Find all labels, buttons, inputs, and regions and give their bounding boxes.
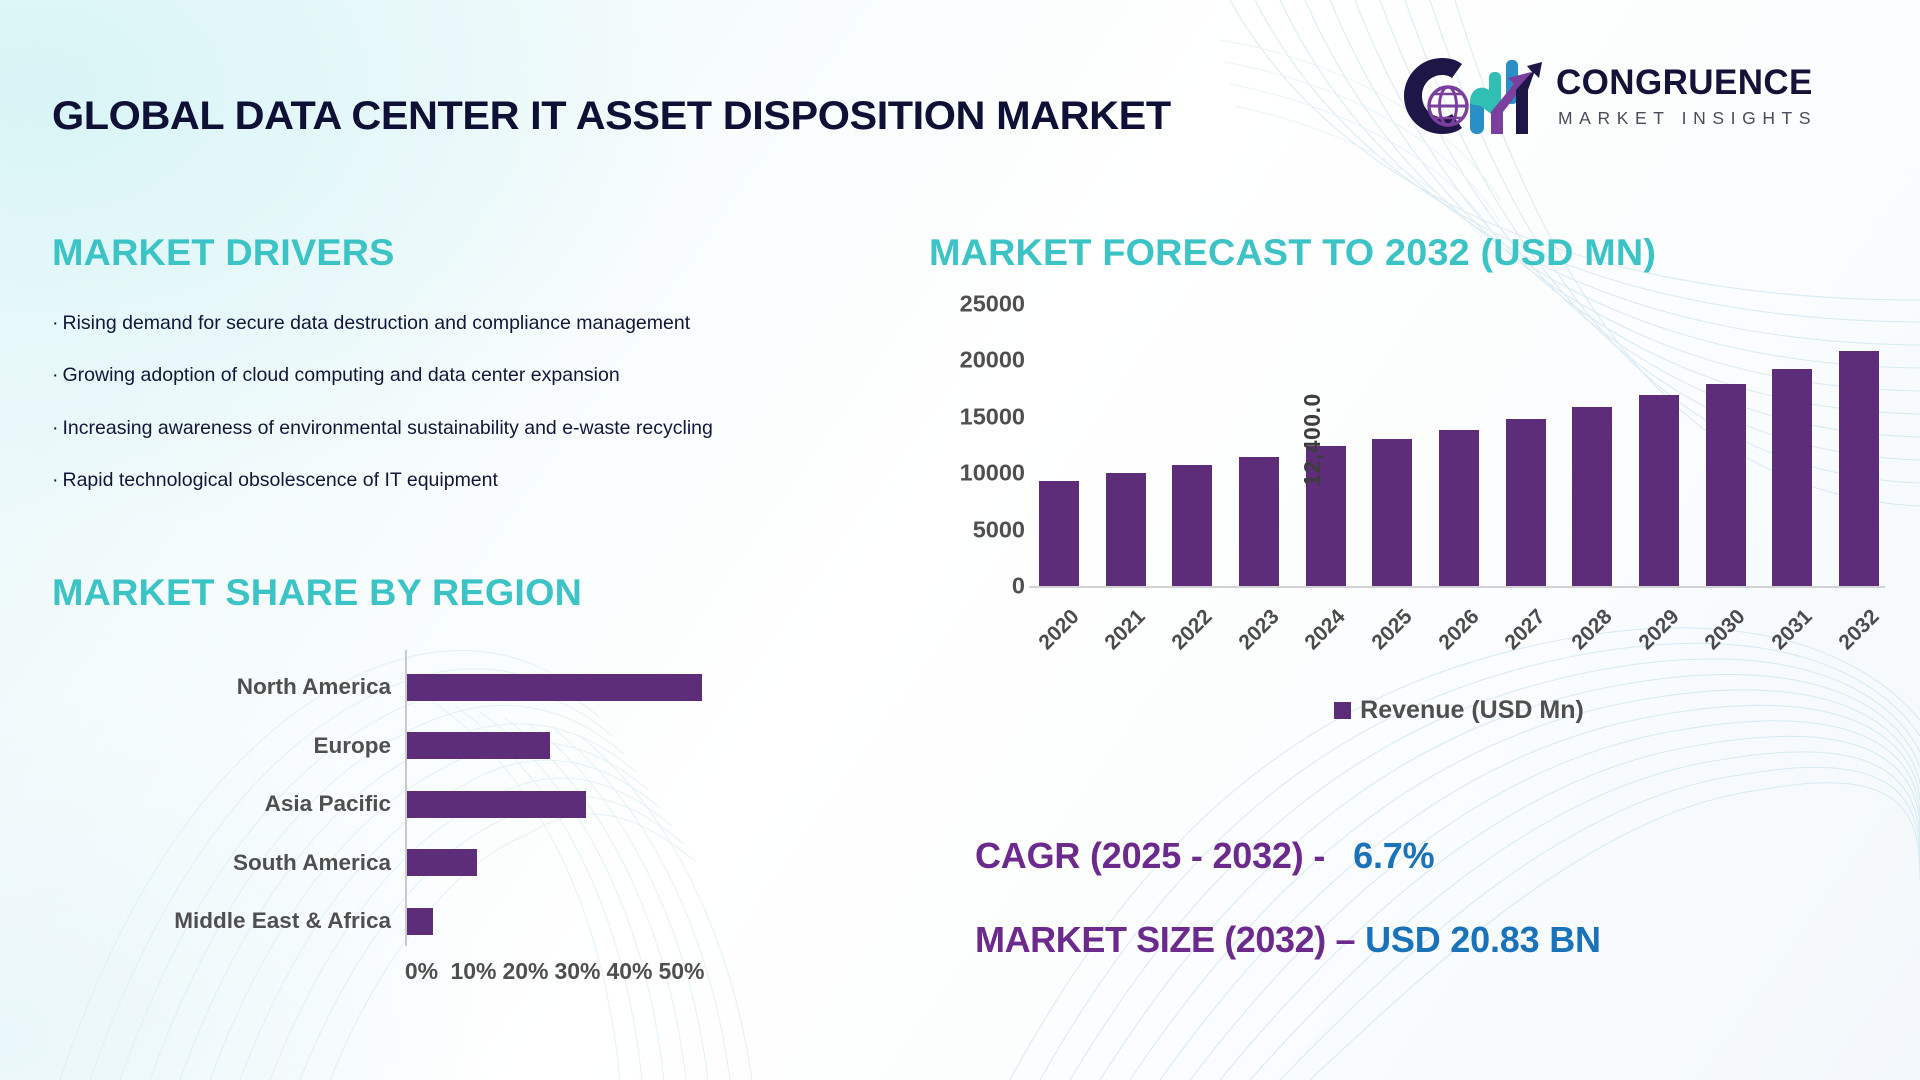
region-row: Asia Pacific	[52, 775, 882, 834]
x-axis-tick: 2022	[1170, 596, 1214, 642]
x-axis-tick: 2024	[1304, 596, 1348, 642]
bar	[1039, 481, 1079, 586]
legend-swatch-icon	[1334, 702, 1351, 719]
market-share-heading: MARKET SHARE BY REGION	[52, 572, 899, 614]
x-axis-tick: 2027	[1504, 596, 1548, 642]
forecast-y-axis: 0500010000150002000025000	[925, 304, 1025, 586]
y-axis-tick-label: 10000	[960, 460, 1025, 487]
legend-label: Revenue (USD Mn)	[1360, 696, 1584, 725]
bar-column: 12,400.0	[1304, 446, 1348, 586]
region-bar	[405, 849, 477, 876]
region-label: Europe	[52, 733, 405, 759]
cagr-label: CAGR (2025 - 2032) -	[975, 835, 1325, 877]
driver-item: ·Growing adoption of cloud computing and…	[52, 364, 1012, 387]
market-size-label: MARKET SIZE (2032) –	[975, 919, 1355, 961]
bar-column	[1237, 457, 1281, 586]
x-axis-tick: 2025	[1370, 596, 1414, 642]
bullet-icon: ·	[52, 312, 59, 334]
bar-column	[1570, 407, 1614, 586]
bullet-icon: ·	[52, 417, 59, 439]
driver-item: ·Rising demand for secure data destructi…	[52, 312, 1012, 335]
logo-company-name: CONGRUENCE	[1556, 65, 1817, 100]
region-bar-wrapper	[405, 775, 882, 834]
header: GLOBAL DATA CENTER IT ASSET DISPOSITION …	[0, 0, 1920, 180]
region-bar	[405, 732, 550, 759]
region-axis-tick-label: 50%	[646, 958, 717, 985]
y-axis-tick-label: 20000	[960, 347, 1025, 374]
bar-column	[1837, 351, 1881, 586]
bar	[1772, 369, 1812, 586]
x-axis-tick: 2021	[1104, 596, 1148, 642]
market-share-by-region-section: MARKET SHARE BY REGION North AmericaEuro…	[52, 572, 882, 958]
market-drivers-section: MARKET DRIVERS ·Rising demand for secure…	[52, 232, 1012, 522]
cagr-value: 6.7%	[1353, 835, 1434, 877]
region-bar-wrapper	[405, 892, 882, 951]
region-bar-wrapper	[405, 658, 882, 717]
forecast-legend: Revenue (USD Mn)	[1037, 696, 1881, 725]
bar	[1706, 384, 1746, 586]
forecast-bar-chart: 0500010000150002000025000 12,400.0 20202…	[925, 304, 1885, 634]
bullet-icon: ·	[52, 364, 59, 386]
logo-tagline: MARKET INSIGHTS	[1556, 110, 1817, 128]
x-axis-tick: 2023	[1237, 596, 1281, 642]
bar-column	[1170, 465, 1214, 586]
bar-column	[1437, 430, 1481, 586]
cagr-stat: CAGR (2025 - 2032) - 6.7%	[975, 835, 1875, 877]
forecast-baseline	[1029, 586, 1885, 588]
y-axis-tick-label: 25000	[960, 291, 1025, 318]
region-bar-rows: North AmericaEuropeAsia PacificSouth Ame…	[52, 658, 882, 951]
forecast-x-axis: 2020202120222023202420252026202720282029…	[1037, 596, 1881, 642]
bar	[1506, 419, 1546, 586]
congruence-logo-icon	[1390, 50, 1542, 142]
bar-column	[1104, 473, 1148, 586]
bar-column	[1770, 369, 1814, 586]
region-bar	[405, 674, 702, 701]
region-bar-wrapper	[405, 717, 882, 776]
region-row: Europe	[52, 717, 882, 776]
driver-text: Rising demand for secure data destructio…	[63, 312, 691, 334]
forecast-plot-area: 12,400.0	[1037, 304, 1881, 586]
market-forecast-section: MARKET FORECAST TO 2032 (USD MN) 0500010…	[925, 232, 1885, 634]
logo-wordmark: CONGRUENCE MARKET INSIGHTS	[1556, 65, 1817, 128]
driver-text: Increasing awareness of environmental su…	[63, 417, 713, 439]
region-bar-chart: North AmericaEuropeAsia PacificSouth Ame…	[52, 658, 882, 958]
market-drivers-list: ·Rising demand for secure data destructi…	[52, 312, 1012, 493]
region-axis-line	[405, 650, 407, 946]
bar-column	[1637, 395, 1681, 586]
bar-value-label: 12,400.0	[1299, 393, 1326, 487]
bar-column	[1037, 481, 1081, 586]
bar-column	[1370, 439, 1414, 586]
driver-text: Rapid technological obsolescence of IT e…	[63, 469, 498, 491]
x-axis-tick: 2031	[1770, 596, 1814, 642]
y-axis-tick-label: 15000	[960, 403, 1025, 430]
bar	[1172, 465, 1212, 586]
x-axis-tick: 2029	[1637, 596, 1681, 642]
bar-column	[1504, 419, 1548, 586]
driver-item: ·Rapid technological obsolescence of IT …	[52, 469, 1012, 492]
market-size-value: USD 20.83 BN	[1365, 919, 1601, 961]
region-bar-wrapper	[405, 834, 882, 893]
x-axis-tick: 2030	[1704, 596, 1748, 642]
market-drivers-heading: MARKET DRIVERS	[52, 232, 1031, 274]
y-axis-tick-label: 5000	[973, 516, 1025, 543]
region-axis-ticks: 0%10%20%30%40%50%	[405, 958, 825, 985]
region-label: Middle East & Africa	[52, 908, 405, 934]
bar	[1372, 439, 1412, 586]
bar	[1439, 430, 1479, 586]
x-axis-tick: 2026	[1437, 596, 1481, 642]
region-label: North America	[52, 674, 405, 700]
region-label: Asia Pacific	[52, 791, 405, 817]
bar-column	[1704, 384, 1748, 586]
bar	[1639, 395, 1679, 586]
bar	[1839, 351, 1879, 586]
region-row: North America	[52, 658, 882, 717]
driver-item: ·Increasing awareness of environmental s…	[52, 417, 1012, 440]
region-row: Middle East & Africa	[52, 892, 882, 951]
market-size-stat: MARKET SIZE (2032) – USD 20.83 BN	[975, 919, 1875, 961]
x-axis-tick: 2032	[1837, 596, 1881, 642]
bullet-icon: ·	[52, 469, 59, 491]
bar	[1572, 407, 1612, 586]
summary-stats: CAGR (2025 - 2032) - 6.7% MARKET SIZE (2…	[975, 835, 1875, 961]
bar	[1106, 473, 1146, 586]
y-axis-tick-label: 0	[1012, 573, 1025, 600]
driver-text: Growing adoption of cloud computing and …	[63, 364, 620, 386]
brand-logo: CONGRUENCE MARKET INSIGHTS	[1390, 50, 1817, 142]
region-row: South America	[52, 834, 882, 893]
market-forecast-heading: MARKET FORECAST TO 2032 (USD MN)	[929, 232, 1904, 274]
x-axis-tick: 2020	[1037, 596, 1081, 642]
region-bar	[405, 908, 433, 935]
bar	[1239, 457, 1279, 586]
page-title: GLOBAL DATA CENTER IT ASSET DISPOSITION …	[52, 94, 1171, 139]
x-axis-tick: 2028	[1570, 596, 1614, 642]
region-bar	[405, 791, 586, 818]
region-label: South America	[52, 850, 405, 876]
